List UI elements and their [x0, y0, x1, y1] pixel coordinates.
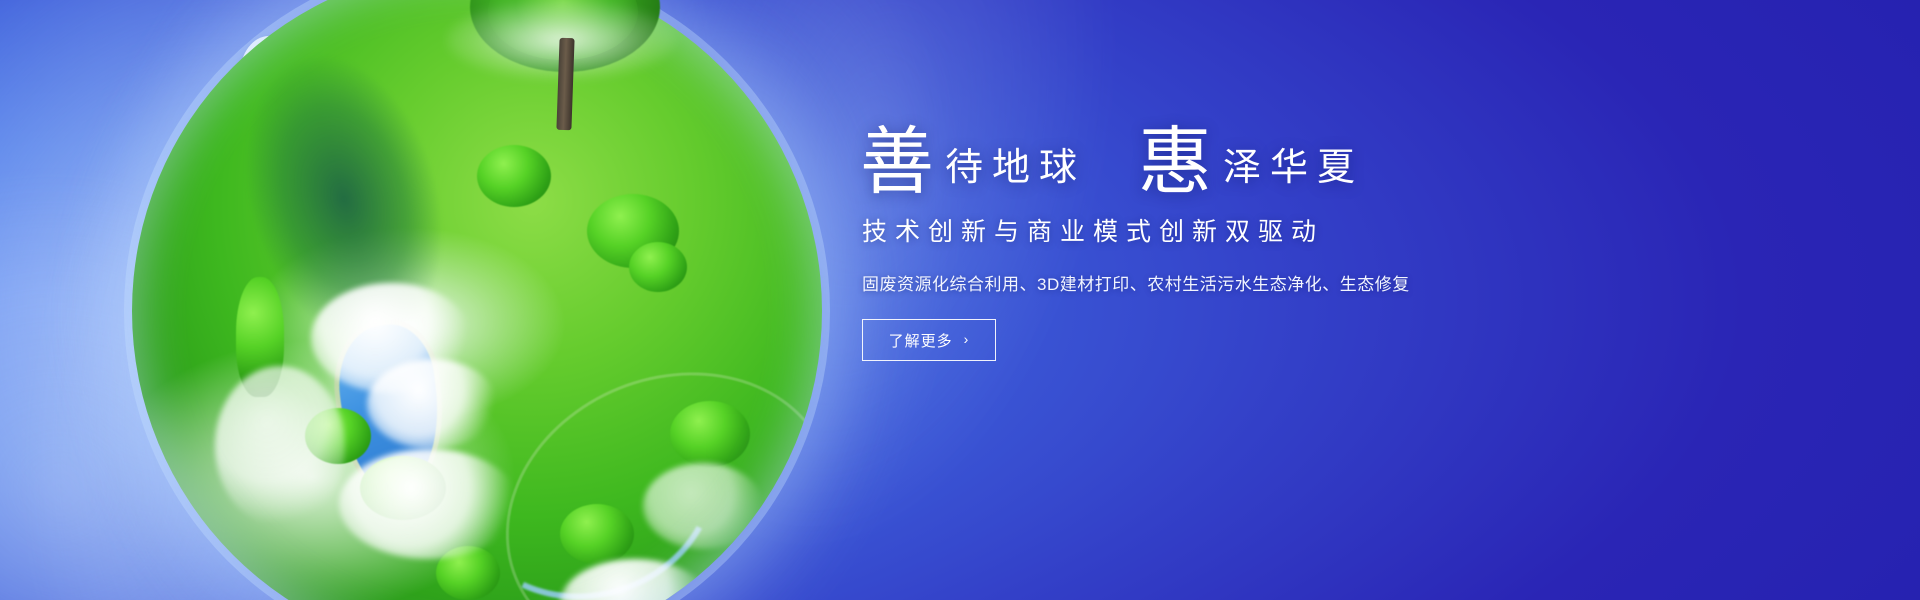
headline-word-2: 泽华夏	[1213, 149, 1364, 196]
cloud-puff	[643, 463, 763, 549]
banner-description: 固废资源化综合利用、3D建材打印、农村生活污水生态净化、生态修复	[862, 270, 1660, 295]
page-title: 善 待地球 惠 泽华夏	[860, 122, 1660, 196]
cloud-puff	[215, 366, 345, 526]
tree-cluster	[560, 504, 634, 564]
headline-word-1: 待地球	[935, 149, 1086, 196]
banner-copy: 善 待地球 惠 泽华夏 技术创新与商业模式创新双驱动 固废资源化综合利用、3D建…	[860, 122, 1660, 361]
hero-banner: 善 待地球 惠 泽华夏 技术创新与商业模式创新双驱动 固废资源化综合利用、3D建…	[0, 0, 1920, 600]
chevron-right-icon: ›	[964, 332, 970, 346]
tree-trunk	[556, 38, 574, 130]
headline-char-1: 善	[860, 126, 935, 200]
headline-char-2: 惠	[1138, 126, 1213, 200]
tree-cluster	[629, 242, 687, 292]
learn-more-button[interactable]: 了解更多 ›	[862, 319, 996, 361]
learn-more-label: 了解更多	[889, 330, 953, 351]
tree-icon	[470, 0, 660, 132]
tree-cluster	[670, 401, 750, 467]
cloud-puff	[339, 449, 519, 559]
banner-subtitle: 技术创新与商业模式创新双驱动	[862, 212, 1660, 248]
tree-cluster	[477, 145, 551, 207]
cloud-puff	[367, 359, 497, 449]
